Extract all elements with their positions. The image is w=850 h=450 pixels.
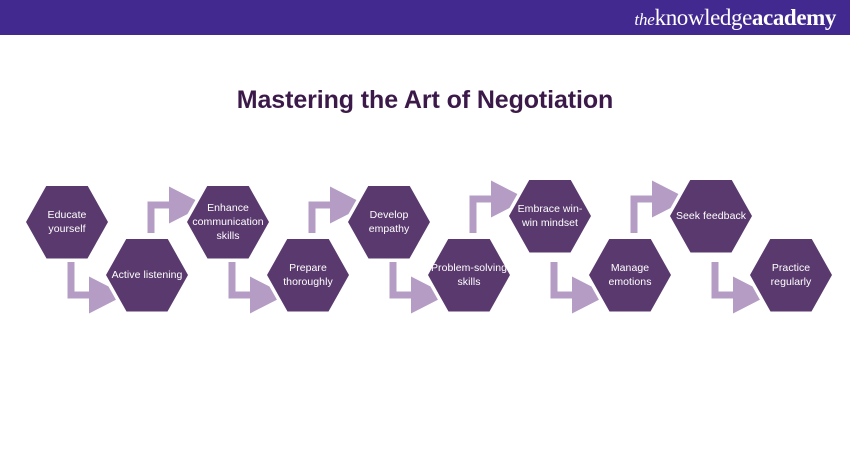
flow-step-7[interactable]: Embrace win-win mindset — [505, 176, 595, 256]
flow-step-9[interactable]: Seek feedback — [666, 176, 756, 256]
flow-step-1[interactable]: Educate yourself — [22, 182, 112, 262]
flow-step-4[interactable]: Prepare thoroughly — [263, 235, 353, 315]
flow-step-label: Prepare thoroughly — [263, 235, 353, 315]
flow-step-label: Active listening — [102, 235, 192, 315]
flow-step-2[interactable]: Active listening — [102, 235, 192, 315]
flow-step-3[interactable]: Enhance communication skills — [183, 182, 273, 262]
hexagon-flow: Educate yourself Active listening Enhanc… — [0, 0, 850, 450]
flow-step-label: Problem-solving skills — [424, 235, 514, 315]
flow-step-label: Manage emotions — [585, 235, 675, 315]
flow-step-label: Seek feedback — [666, 176, 756, 256]
flow-step-label: Embrace win-win mindset — [505, 176, 595, 256]
flow-step-label: Practice regularly — [746, 235, 836, 315]
flow-step-label: Enhance communication skills — [183, 182, 273, 262]
flow-step-8[interactable]: Manage emotions — [585, 235, 675, 315]
flow-step-5[interactable]: Develop empathy — [344, 182, 434, 262]
flow-step-label: Develop empathy — [344, 182, 434, 262]
flow-step-label: Educate yourself — [22, 182, 112, 262]
infographic-canvas: theknowledgeacademy Mastering the Art of… — [0, 0, 850, 450]
flow-step-6[interactable]: Problem-solving skills — [424, 235, 514, 315]
flow-step-10[interactable]: Practice regularly — [746, 235, 836, 315]
